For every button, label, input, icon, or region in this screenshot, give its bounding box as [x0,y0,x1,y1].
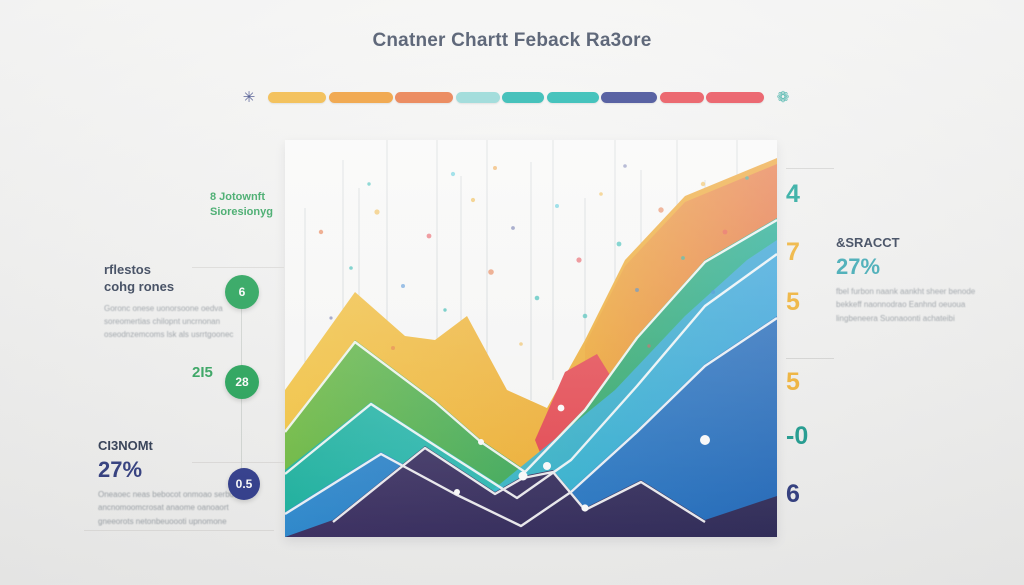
axis-tick-2: 5 [786,288,826,317]
body-line: lingbeneera Suonaoonti achateibi [836,312,975,325]
right-heading: &SRACCT [836,235,975,252]
left-top-heading-1: rflestos [104,262,233,279]
left-eyebrow-line1: 8 Jotownft [210,190,273,205]
left-eyebrow-line2: Sioresionyg [210,205,273,220]
badge-stem-green [241,305,242,369]
axis-tick-1: 7 [786,238,826,267]
left-metric: 2I5 [192,364,213,381]
left-top-heading-2: cohg rones [104,279,233,296]
left-annotation-bottom: CI3NOMt 27% Oneaoec neas bebocot onmoao … [98,438,247,528]
body-line: fbel furbon naank aankht sheer benode [836,285,975,298]
legend-swatch-0[interactable] [268,92,326,103]
axis-tick-4: -0 [786,422,826,451]
legend-swatch-1[interactable] [329,92,393,103]
legend-bar-list [262,92,770,103]
left-annotation-top: rflestos cohg rones Goronc onese uonorso… [104,262,233,341]
legend-swatch-8[interactable] [706,92,764,103]
axis-tick-0: 4 [786,180,826,209]
left-bottom-value: 27% [98,457,247,482]
right-value: 27% [836,254,975,279]
left-bottom-heading: CI3NOMt [98,438,247,455]
divider-left-foot [84,530,274,531]
left-bottom-body: Oneaoec neas bebocot onmoao serbuche anc… [98,488,247,528]
badge-green-top[interactable]: 6 [225,275,259,309]
axis-tick-5: 6 [786,480,826,509]
body-line: Goronc onese uonorsoone oedva [104,302,233,315]
legend-swatch-4[interactable] [502,92,544,103]
chart-plot-area[interactable] [285,140,777,537]
body-line: gneeorots netonbeuoooti upnomone [98,515,247,528]
legend-swatch-5[interactable] [547,92,599,103]
right-annotation: &SRACCT 27% fbel furbon naank aankht she… [836,235,975,325]
asterisk-icon: ✳ [236,90,262,105]
legend-swatch-7[interactable] [660,92,704,103]
body-line: soreomertias chilopnt uncrnonan [104,315,233,328]
legend-swatch-6[interactable] [601,92,657,103]
body-line: oseodnzemcoms lsk als usrrtgoonec [104,328,233,341]
left-eyebrow: 8 Jotownft Sioresionyg [210,190,273,220]
right-body: fbel furbon naank aankht sheer benode be… [836,285,975,325]
poster-canvas: Cnatner Chartt Feback Ra3ore ✳ ❁ [0,0,1024,585]
legend-swatch-3[interactable] [456,92,500,103]
body-line: bekkeff naonnodrao Eanhnd oeuoua [836,298,975,311]
badge-navy[interactable]: 0.5 [228,468,260,500]
axis-tick-3: 5 [786,368,826,397]
chart-svg [285,140,777,537]
badge-stem-navy [241,398,242,472]
badge-green-bottom[interactable]: 28 [225,365,259,399]
page-title: Cnatner Chartt Feback Ra3ore [0,30,1024,52]
axis-right: 4755-06 [786,150,826,540]
body-line: ancnomoomcrosat anaome oanoaort [98,501,247,514]
legend: ✳ ❁ [236,88,796,106]
legend-swatch-2[interactable] [395,92,453,103]
body-line: Oneaoec neas bebocot onmoao serbuche [98,488,247,501]
sparkle-icon: ❁ [770,90,796,105]
left-top-body: Goronc onese uonorsoone oedva soreomerti… [104,302,233,342]
